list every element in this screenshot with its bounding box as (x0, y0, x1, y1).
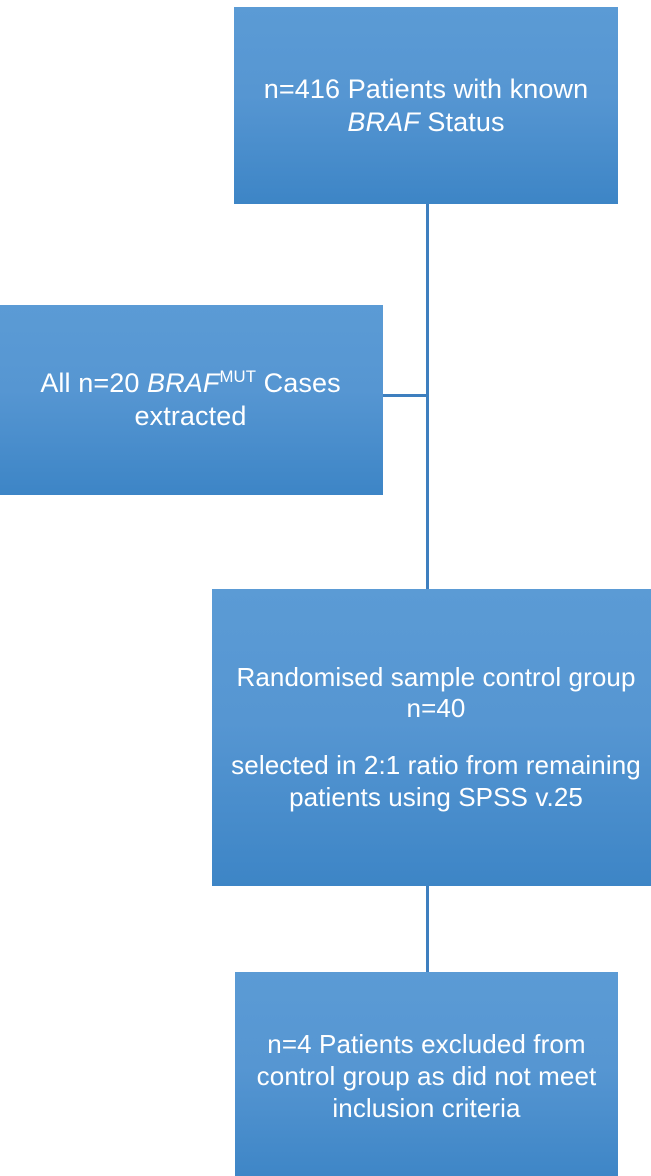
node-braf-mut-cases-text: All n=20 BRAFMUT Cases extracted (0, 367, 383, 433)
gene-superscript-mut: MUT (219, 367, 256, 386)
flowchart-canvas: n=416 Patients with known BRAF Status Al… (0, 0, 651, 1176)
node-excluded-patients-text: n=4 Patients excluded from control group… (235, 1029, 618, 1124)
node-known-braf-status[interactable]: n=416 Patients with known BRAF Status (234, 7, 618, 204)
gene-symbol-braf-base: BRAF (147, 368, 219, 398)
node-control-group[interactable]: Randomised sample control group n=40 sel… (212, 589, 651, 886)
node-known-braf-post-text: Status (420, 107, 505, 137)
node-braf-mut-pre-text: All n=20 (40, 368, 147, 398)
node-control-group-line-1: Randomised sample control group n=40 (212, 662, 651, 725)
connector-braf-mut-to-trunk[interactable] (383, 394, 427, 397)
gene-symbol-braf: BRAF (347, 107, 419, 137)
node-excluded-patients[interactable]: n=4 Patients excluded from control group… (235, 972, 618, 1176)
node-control-group-line-2: selected in 2:1 ratio from remaining pat… (212, 750, 651, 813)
connector-control-group-to-excluded[interactable] (426, 886, 429, 972)
node-braf-mut-cases[interactable]: All n=20 BRAFMUT Cases extracted (0, 305, 383, 495)
gene-symbol-braf: BRAFMUT (147, 368, 256, 398)
node-known-braf-status-text: n=416 Patients with known BRAF Status (234, 73, 618, 139)
node-known-braf-pre-text: n=416 Patients with known (264, 74, 588, 104)
